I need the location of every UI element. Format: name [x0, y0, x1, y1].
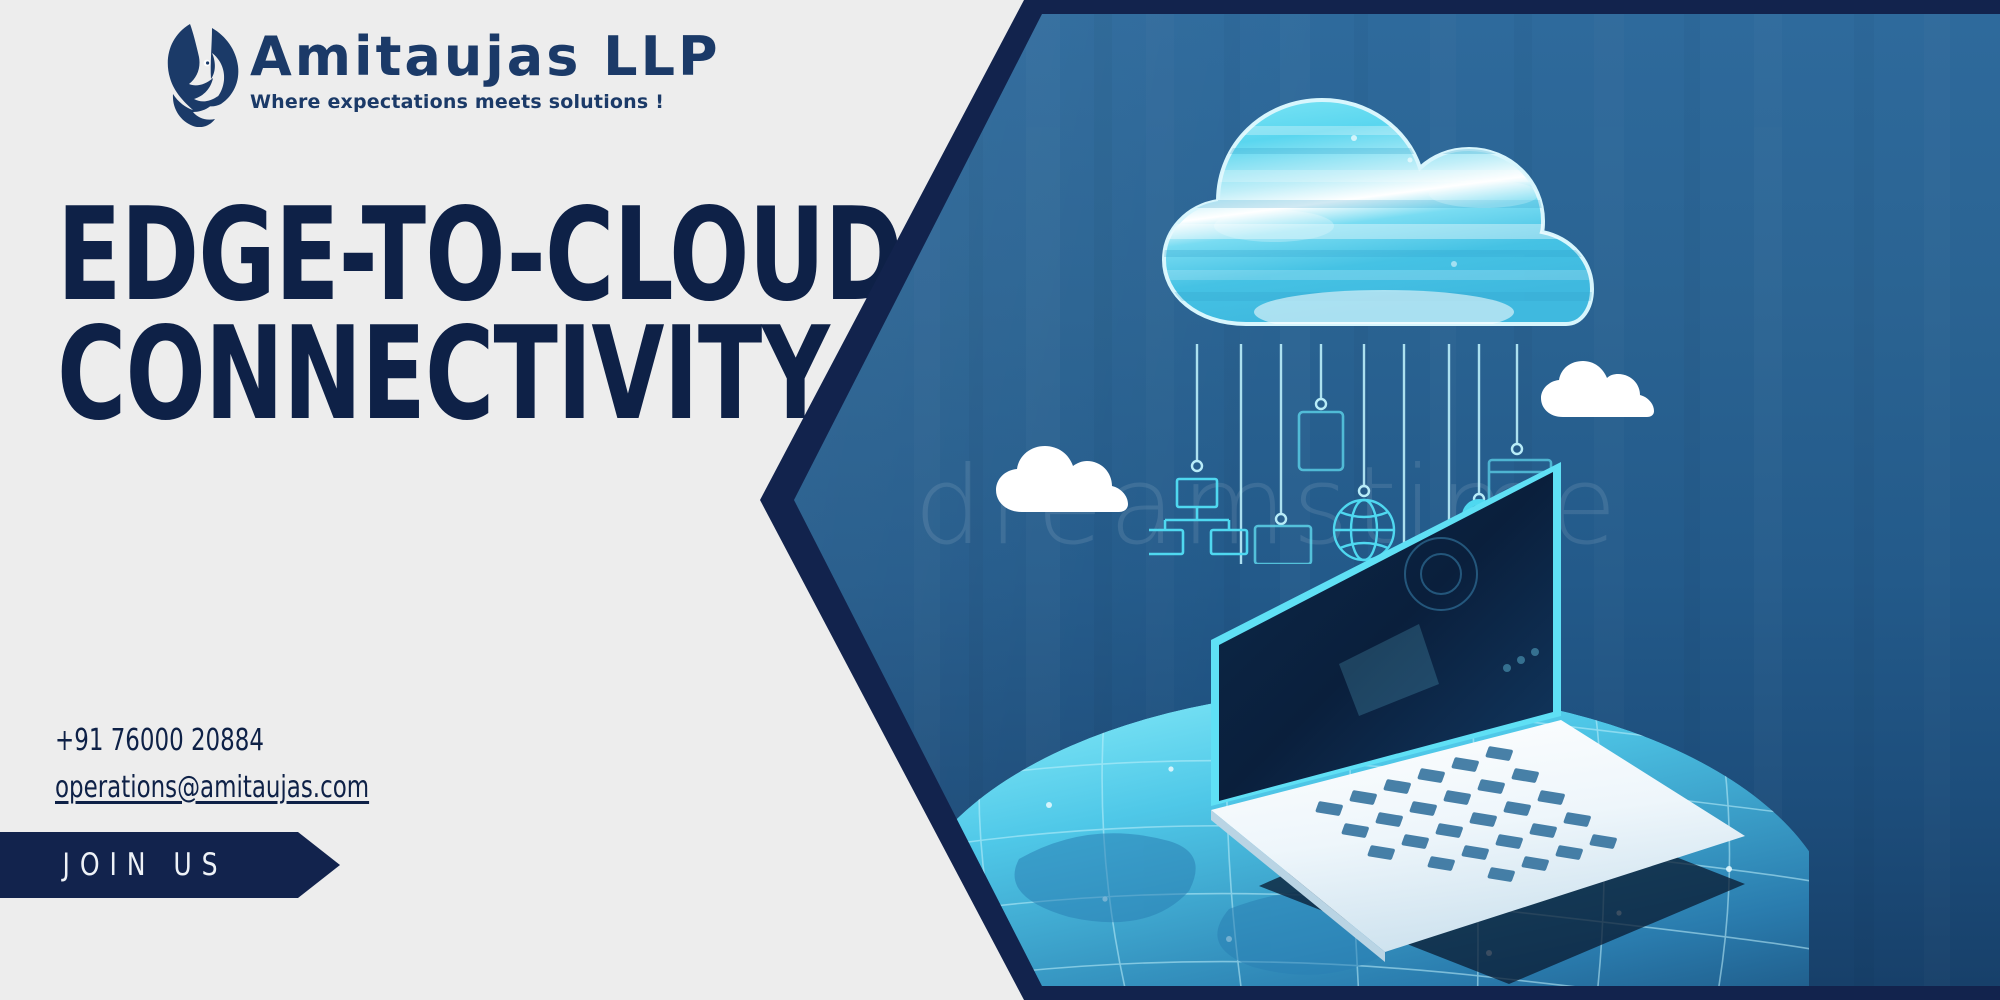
headline-line-1: EDGE-TO-CLOUD	[57, 196, 902, 315]
white-cloud-icon	[994, 444, 1134, 516]
contact-phone[interactable]: +91 76000 20884	[55, 718, 369, 765]
headline-line-2: CONNECTIVITY	[57, 315, 902, 434]
laptop-icon	[1189, 454, 1749, 984]
contact-block: +91 76000 20884 operations@amitaujas.com	[55, 718, 425, 811]
hexagon-image-frame: dreamstime	[760, 0, 2000, 1000]
cloud-computing-icon	[1154, 74, 1624, 374]
promotional-banner: Amitaujas LLP Where expectations meets s…	[0, 0, 2000, 1000]
hexagon-image-inner: dreamstime	[794, 14, 2000, 986]
white-cloud-icon	[1539, 359, 1659, 421]
join-us-label: JOIN US	[52, 847, 228, 883]
brand-tagline: Where expectations meets solutions !	[250, 91, 721, 113]
brand-name: Amitaujas LLP	[250, 30, 721, 84]
phoenix-bird-icon	[160, 22, 240, 127]
brand-logo[interactable]: Amitaujas LLP Where expectations meets s…	[160, 22, 721, 127]
join-us-button[interactable]: JOIN US	[0, 832, 340, 898]
contact-email[interactable]: operations@amitaujas.com	[55, 765, 369, 812]
